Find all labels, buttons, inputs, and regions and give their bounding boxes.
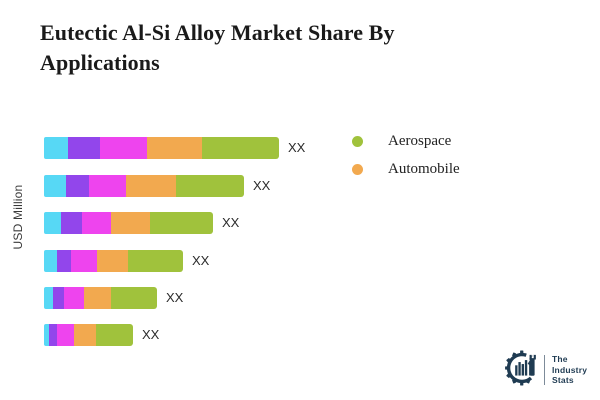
legend-swatch-icon [352, 136, 363, 147]
logo-divider [544, 355, 545, 385]
bar-segment-3[interactable] [64, 287, 84, 309]
bar-row[interactable] [44, 175, 244, 197]
logo-wordmark: The Industry Stats [552, 354, 587, 386]
bar-value-label: XX [192, 250, 209, 272]
bar-value-label: XX [166, 287, 183, 309]
bar-segment-3[interactable] [71, 250, 97, 272]
bar-segment-5[interactable] [176, 175, 244, 197]
bar-segment-2[interactable] [66, 175, 89, 197]
legend-label: Aerospace [388, 133, 451, 150]
bar-segment-5[interactable] [111, 287, 157, 309]
bar-segment-2[interactable] [49, 324, 57, 346]
bar-segment-3[interactable] [82, 212, 111, 234]
bar-segment-4[interactable] [84, 287, 111, 309]
legend-item-automobile[interactable]: Automobile [352, 155, 542, 183]
bar-segment-5[interactable] [202, 137, 279, 159]
bar-value-label: XX [142, 324, 159, 346]
bar-segment-1[interactable] [44, 287, 53, 309]
bar-segment-1[interactable] [44, 175, 66, 197]
logo-line-2: Industry [552, 365, 587, 376]
bar-segment-2[interactable] [68, 137, 100, 159]
legend-swatch-icon [352, 164, 363, 175]
bar-value-label: XX [253, 175, 270, 197]
bar-segment-1[interactable] [44, 137, 68, 159]
bar-row[interactable] [44, 287, 157, 309]
bar-segment-4[interactable] [97, 250, 128, 272]
bar-segment-1[interactable] [44, 250, 57, 272]
bar-segment-5[interactable] [96, 324, 133, 346]
bar-segment-3[interactable] [89, 175, 126, 197]
bar-segment-2[interactable] [53, 287, 64, 309]
bar-segment-1[interactable] [44, 212, 61, 234]
chart-legend: AerospaceAutomobile [352, 127, 542, 183]
bar-segment-4[interactable] [147, 137, 202, 159]
legend-label: Automobile [388, 161, 460, 178]
industry-stats-gear-icon [504, 350, 540, 391]
bar-value-label: XX [222, 212, 239, 234]
plot-area: XXXXXXXXXXXX [0, 0, 340, 400]
bar-row[interactable] [44, 324, 133, 346]
brand-logo: The Industry Stats [504, 347, 596, 393]
logo-line-1: The [552, 354, 587, 365]
bar-segment-2[interactable] [57, 250, 71, 272]
bar-segment-2[interactable] [61, 212, 82, 234]
legend-item-aerospace[interactable]: Aerospace [352, 127, 542, 155]
bar-segment-4[interactable] [74, 324, 96, 346]
bar-row[interactable] [44, 137, 279, 159]
bar-segment-5[interactable] [128, 250, 183, 272]
bar-segment-4[interactable] [111, 212, 150, 234]
bar-segment-4[interactable] [126, 175, 176, 197]
bar-row[interactable] [44, 212, 213, 234]
bar-segment-5[interactable] [150, 212, 213, 234]
bar-segment-3[interactable] [100, 137, 147, 159]
bar-segment-3[interactable] [57, 324, 74, 346]
bar-value-label: XX [288, 137, 305, 159]
chart-canvas: Eutectic Al-Si Alloy Market Share By App… [0, 0, 600, 400]
logo-line-3: Stats [552, 375, 587, 386]
bar-row[interactable] [44, 250, 183, 272]
